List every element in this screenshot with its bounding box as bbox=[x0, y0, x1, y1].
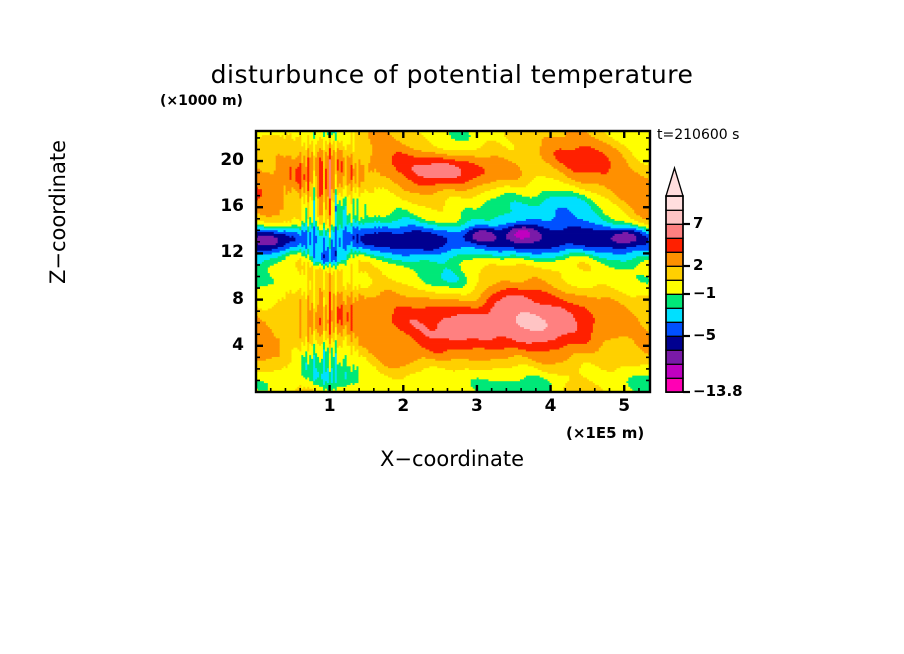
colorbar-tick-label: 7 bbox=[693, 214, 703, 232]
y-axis-title: Z−coordinate bbox=[46, 92, 70, 332]
x-tick-label: 4 bbox=[536, 396, 566, 416]
x-axis-title: X−coordinate bbox=[0, 447, 904, 471]
x-tick-label: 3 bbox=[462, 396, 492, 416]
colorbar-tick-label: −1 bbox=[693, 284, 716, 302]
y-tick-label: 8 bbox=[210, 289, 244, 309]
x-tick-label: 1 bbox=[315, 396, 345, 416]
contour-figure bbox=[0, 0, 904, 654]
chart-title: disturbunce of potential temperature bbox=[0, 60, 904, 89]
timestamp-label: t=210600 s bbox=[657, 127, 739, 143]
z-unit-label: (×1000 m) bbox=[160, 93, 243, 109]
y-tick-label: 4 bbox=[210, 335, 244, 355]
x-unit-label: (×1E5 m) bbox=[566, 424, 644, 442]
colorbar-tick-label: −13.8 bbox=[693, 382, 743, 400]
y-tick-label: 12 bbox=[210, 242, 244, 262]
y-tick-label: 20 bbox=[210, 150, 244, 170]
x-tick-label: 2 bbox=[388, 396, 418, 416]
colorbar-tick-label: 2 bbox=[693, 256, 703, 274]
y-tick-label: 16 bbox=[210, 196, 244, 216]
contour-field bbox=[256, 131, 650, 392]
x-tick-label: 5 bbox=[609, 396, 639, 416]
colorbar-tick-label: −5 bbox=[693, 326, 716, 344]
